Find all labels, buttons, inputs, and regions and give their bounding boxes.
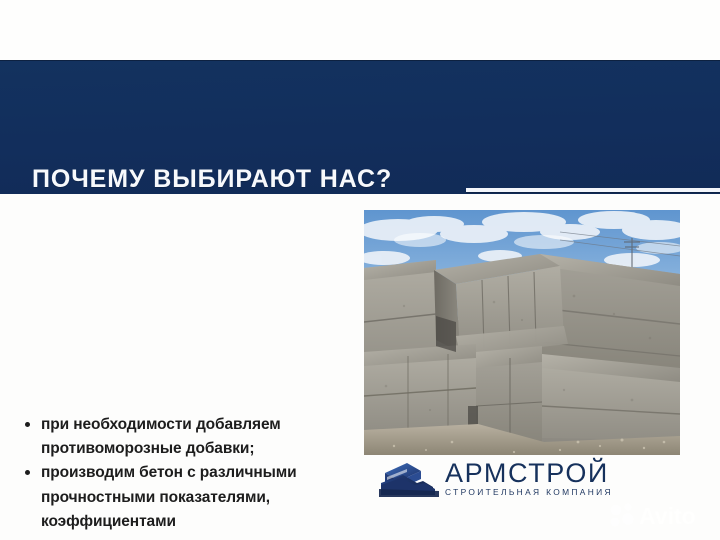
logo-wordmark-group: АРМСТРОЙ СТРОИТЕЛЬНАЯ КОМПАНИЯ bbox=[445, 459, 641, 498]
page-title: ПОЧЕМУ ВЫБИРАЮТ НАС? bbox=[32, 167, 392, 192]
building-mark-icon bbox=[377, 461, 439, 499]
list-item: производим бетон с различными прочностны… bbox=[22, 461, 352, 540]
bullet-dot-icon bbox=[25, 422, 30, 427]
logo-tagline: СТРОИТЕЛЬНАЯ КОМПАНИЯ bbox=[445, 487, 641, 498]
bullet-dot-icon bbox=[25, 470, 30, 475]
logo-name: АРМСТРОЙ bbox=[445, 459, 641, 488]
list-item-text: производим бетон с различными прочностны… bbox=[41, 464, 325, 540]
company-logo: АРМСТРОЙ СТРОИТЕЛЬНАЯ КОМПАНИЯ bbox=[377, 459, 639, 503]
avito-watermark: Avito bbox=[606, 500, 710, 530]
list-item: при необходимости добавляем противомороз… bbox=[22, 413, 352, 461]
bullet-list: при необходимости добавляем противомороз… bbox=[22, 413, 352, 540]
header-divider-rule bbox=[466, 188, 720, 192]
slide-canvas: ПОЧЕМУ ВЫБИРАЮТ НАС? при необходимости д… bbox=[0, 0, 720, 540]
header-band: ПОЧЕМУ ВЫБИРАЮТ НАС? bbox=[0, 60, 720, 194]
svg-text:Avito: Avito bbox=[639, 503, 696, 529]
list-item-text: при необходимости добавляем противомороз… bbox=[41, 416, 281, 457]
top-white-gutter bbox=[0, 0, 720, 60]
concrete-blocks-photo bbox=[364, 210, 680, 455]
